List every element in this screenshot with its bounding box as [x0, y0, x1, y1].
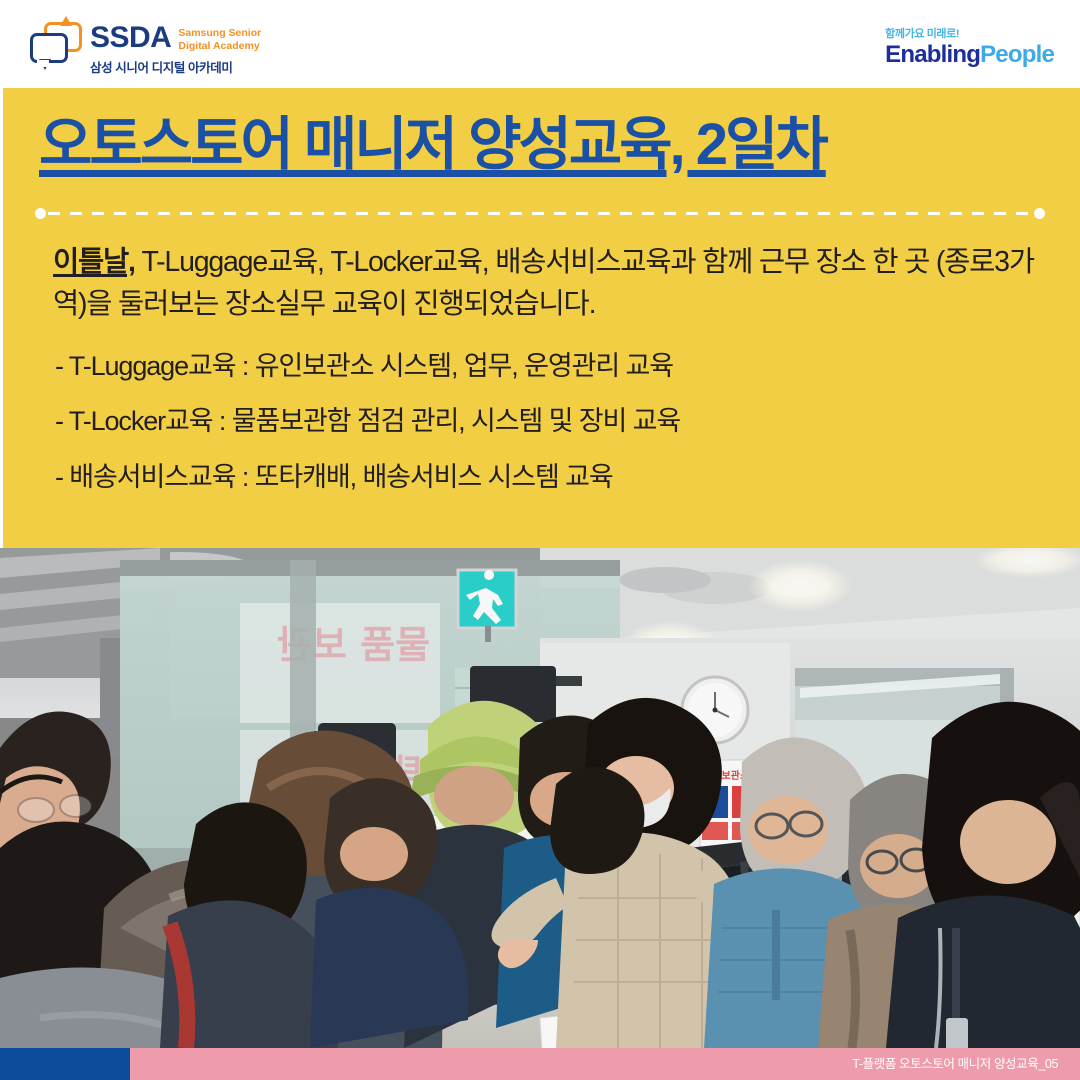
- hero-panel: 오토스토어 매니저 양성교육, 2일차 이틀날, T-Luggage교육, T-…: [3, 88, 1080, 548]
- ssda-subtitle: Samsung Senior Digital Academy: [178, 27, 261, 53]
- footer-accent-block: [0, 1048, 130, 1080]
- page-title: 오토스토어 매니저 양성교육, 2일차: [39, 114, 826, 177]
- ssda-subtitle-line1: Samsung Senior: [178, 27, 261, 39]
- lead-body: T-Luggage교육, T-Locker교육, 배송서비스교육과 함께 근무 …: [53, 246, 1034, 320]
- lead-emphasis: 이틀날,: [53, 246, 135, 278]
- ssda-subtitle-line2: Digital Academy: [178, 40, 259, 52]
- bullet-item-1: - T-Luggage교육 : 유인보관소 시스템, 업무, 운영관리 교육: [55, 350, 1055, 382]
- divider-dot-left: [35, 208, 46, 219]
- enabling-word: Enabling: [885, 41, 980, 68]
- bullet-item-2: - T-Locker교육 : 물품보관함 점검 관리, 시스템 및 장비 교육: [55, 405, 1055, 437]
- footer-caption: T-플랫폼 오토스토어 매니저 양성교육_05: [852, 1048, 1058, 1080]
- training-photo-illustration: 물품 보관 택배 송장: [0, 548, 1080, 1048]
- slide-card: SSDA Samsung Senior Digital Academy 삼성 시…: [0, 0, 1080, 1080]
- enabling-people-logo: 함께가요 미래로! EnablingPeople: [885, 25, 1054, 67]
- bullet-item-3: - 배송서비스교육 : 또타캐배, 배송서비스 시스템 교육: [55, 461, 1055, 493]
- speech-bubble-blue-icon: [30, 33, 68, 63]
- divider-dashes: [48, 212, 1032, 215]
- ssda-korean-name: 삼성 시니어 디지털 아카데미: [90, 57, 261, 76]
- training-photo: 물품 보관 택배 송장: [0, 548, 1080, 1048]
- bullet-list: - T-Luggage교육 : 유인보관소 시스템, 업무, 운영관리 교육 -…: [55, 350, 1055, 516]
- ssda-wordmark: SSDA: [90, 23, 171, 53]
- dashed-divider: [35, 208, 1045, 218]
- ssda-logo: SSDA Samsung Senior Digital Academy 삼성 시…: [30, 22, 261, 76]
- divider-dot-right: [1034, 208, 1045, 219]
- ssda-logo-text: SSDA Samsung Senior Digital Academy 삼성 시…: [90, 22, 261, 76]
- enabling-people-wordmark: EnablingPeople: [885, 43, 1054, 67]
- footer-bar: T-플랫폼 오토스토어 매니저 양성교육_05: [0, 1048, 1080, 1080]
- header-logo-bar: SSDA Samsung Senior Digital Academy 삼성 시…: [0, 0, 1080, 88]
- people-word: People: [980, 41, 1054, 68]
- speech-bubble-icon: [30, 22, 82, 70]
- lead-paragraph: 이틀날, T-Luggage교육, T-Locker교육, 배송서비스교육과 함…: [53, 241, 1053, 325]
- enabling-people-tagline: 함께가요 미래로!: [885, 25, 1054, 41]
